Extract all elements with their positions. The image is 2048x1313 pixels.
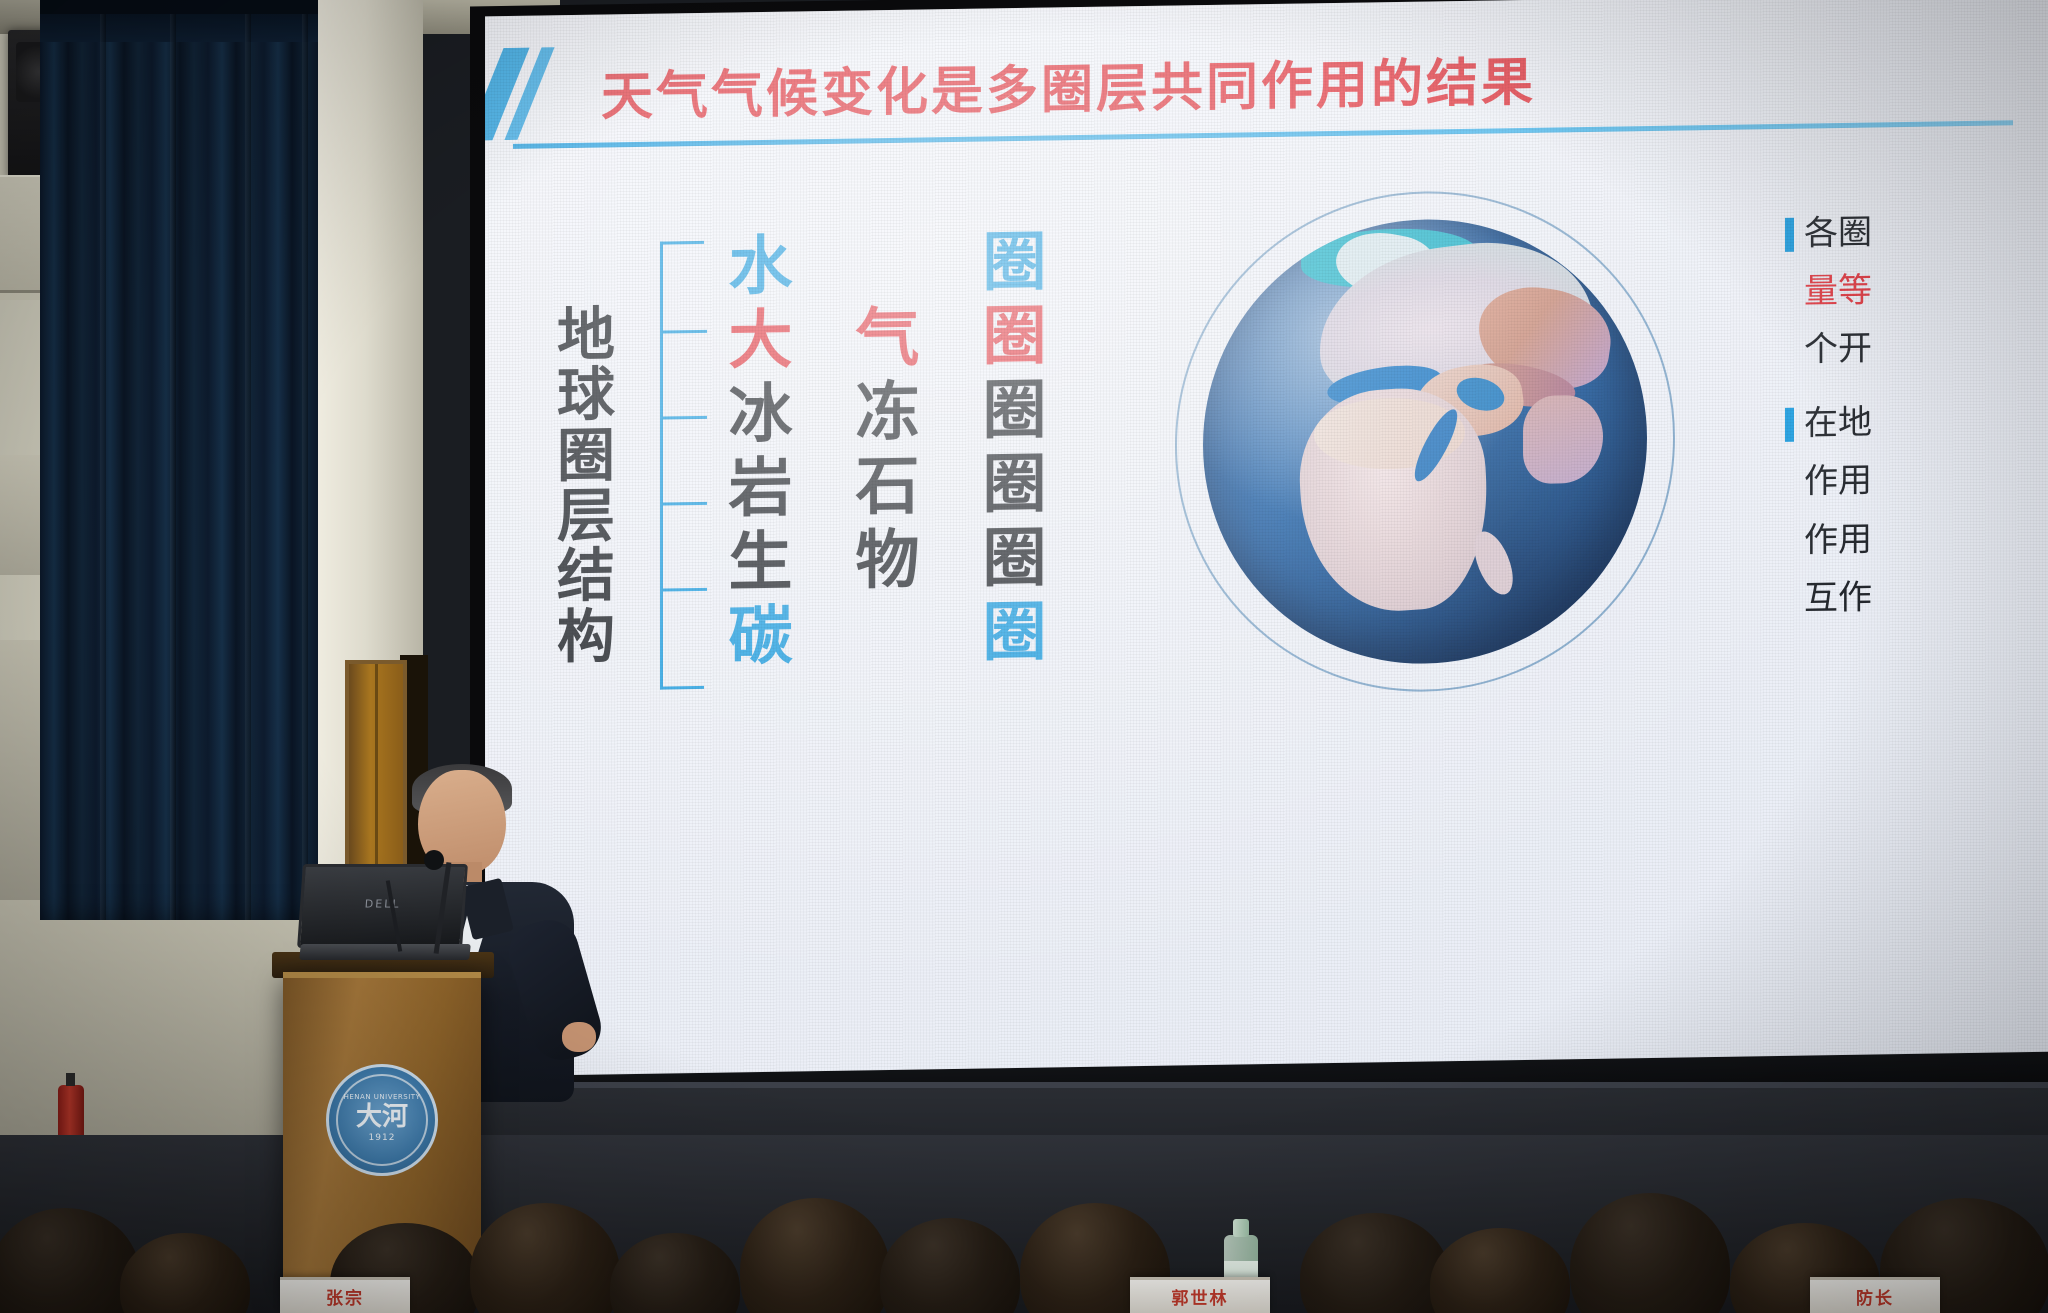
bullet-text: 个开 — [1804, 329, 1872, 370]
audience-head — [610, 1233, 740, 1313]
audience-head — [470, 1203, 620, 1313]
name-card: 郭世林 — [1130, 1277, 1270, 1313]
grouping-bracket — [660, 241, 704, 690]
audience-head — [740, 1198, 890, 1313]
bullet-text: 量等 — [1804, 271, 1872, 312]
bullet-text: 作用 — [1804, 519, 1872, 560]
projection-screen: 天气气候变化是多圈层共同作用的结果 地 球 圈 层 结 构 水 圈 — [485, 0, 2048, 1076]
microphone-head — [424, 850, 444, 870]
presenter-hand — [562, 1022, 596, 1052]
sphere-char: 碳 — [723, 584, 799, 677]
audience-head — [1570, 1193, 1730, 1313]
audience-head — [880, 1218, 1020, 1313]
vertical-label-char: 层 — [537, 485, 637, 547]
vertical-group-label: 地 球 圈 层 结 构 — [537, 304, 637, 667]
bullet-marker-icon — [1785, 218, 1794, 252]
audience-head — [1300, 1213, 1450, 1313]
audience-head — [120, 1233, 250, 1313]
sphere-char: 物 — [850, 508, 926, 601]
bullet-text: 在地 — [1804, 403, 1872, 444]
curtain-main — [40, 0, 340, 920]
sphere-char — [850, 258, 926, 259]
audience-head — [1430, 1228, 1570, 1313]
audience-head — [0, 1208, 140, 1313]
bullet-marker-icon — [1785, 408, 1794, 442]
vertical-label-char: 地 — [537, 304, 637, 366]
bullet-line: 量等 — [1785, 268, 2048, 312]
emblem-english-text: HENAN UNIVERSITY — [344, 1093, 421, 1101]
bullet-line: 各圈 — [1785, 210, 2048, 254]
bullet-text: 互作 — [1804, 577, 1872, 618]
bullet-line: 作用 — [1785, 458, 2048, 502]
sphere-list: 水 圈 大 气 圈 冰 冻 圈 岩 石 圈 生 物 圈 — [723, 219, 1053, 668]
bullet-text: 各圈 — [1804, 213, 1872, 254]
vertical-label-char: 构 — [537, 605, 637, 667]
bullet-line: 互作 — [1785, 574, 2048, 618]
right-bullet-panel: 各圈 量等 个开 在地 作用 作用 — [1785, 210, 2048, 637]
title-slash-decoration — [485, 46, 601, 138]
audience-row: 张宗 郭世林 防长 — [0, 1130, 2048, 1313]
bullet-line: 作用 — [1785, 516, 2048, 560]
vertical-label-char: 球 — [537, 364, 637, 426]
sphere-char: 圈 — [977, 580, 1053, 673]
globe-illustration — [1175, 188, 1675, 696]
vertical-label-char: 结 — [537, 545, 637, 607]
bullet-text: 作用 — [1804, 461, 1872, 502]
vertical-label-char: 圈 — [537, 425, 637, 487]
sphere-char — [850, 628, 926, 629]
name-card: 防长 — [1810, 1277, 1940, 1313]
sphere-row: 碳 圈 — [723, 589, 1053, 668]
slide-title: 天气气候变化是多圈层共同作用的结果 — [601, 39, 1536, 129]
bullet-line: 在地 — [1785, 400, 2048, 444]
laptop-keyboard[interactable] — [299, 944, 471, 960]
wall-lower — [0, 900, 300, 1140]
bullet-line: 个开 — [1785, 326, 2048, 370]
screenshot-root: 天气气候变化是多圈层共同作用的结果 地 球 圈 层 结 构 水 圈 — [0, 0, 2048, 1313]
name-card: 张宗 — [280, 1277, 410, 1313]
